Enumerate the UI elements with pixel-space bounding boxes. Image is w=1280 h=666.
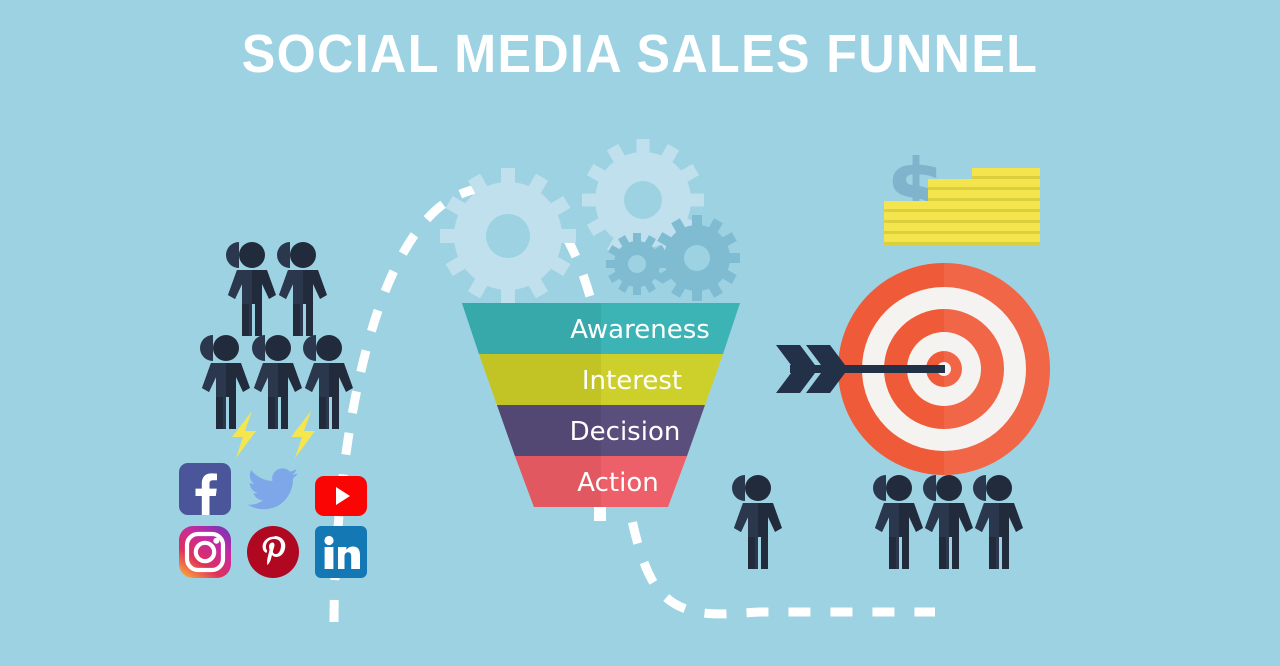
infographic-canvas: SOCIAL MEDIA SALES FUNNEL <box>0 0 1280 666</box>
person-icon <box>923 475 973 569</box>
audience-right-group <box>0 0 1280 666</box>
person-icon <box>973 475 1023 569</box>
person-icon <box>732 475 782 569</box>
person-icon <box>873 475 923 569</box>
